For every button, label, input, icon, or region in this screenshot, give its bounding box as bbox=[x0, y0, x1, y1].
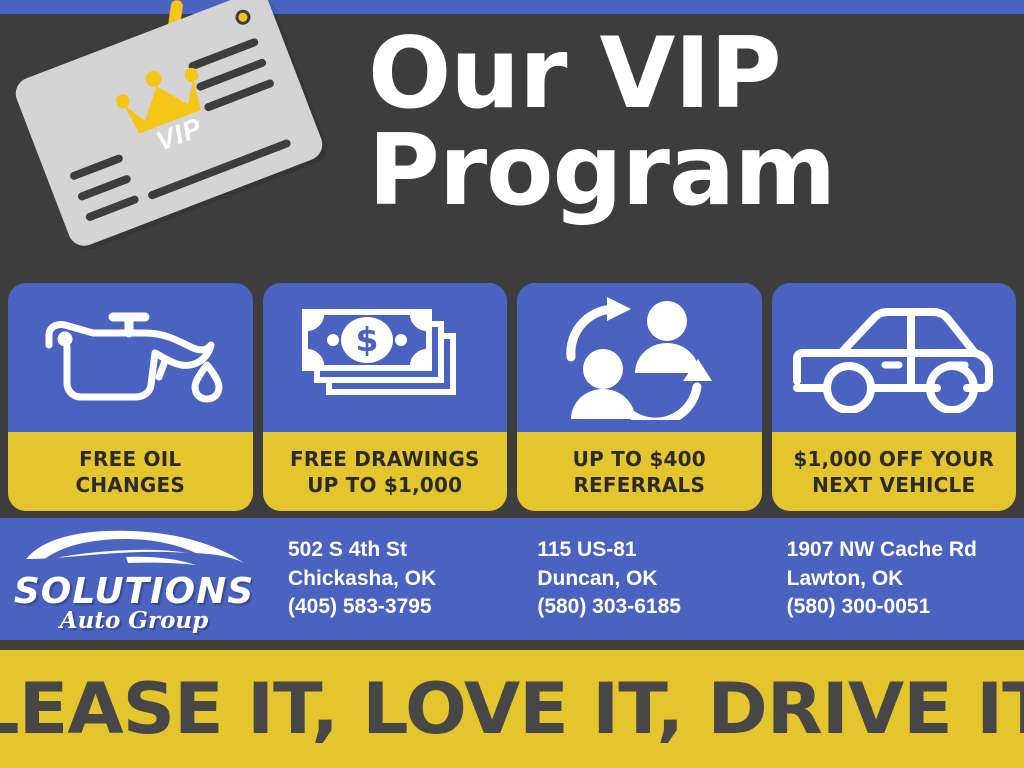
card-text-line bbox=[69, 153, 124, 181]
card-label-slot: UP TO $400 REFERRALS bbox=[517, 432, 762, 511]
location-phone[interactable]: (580) 300-0051 bbox=[787, 593, 1024, 622]
card-label-line-1: $1,000 OFF YOUR bbox=[793, 446, 994, 472]
contact-bar: SOLUTIONS Auto Group 502 S 4th St Chicka… bbox=[0, 518, 1024, 640]
car-icon bbox=[789, 303, 999, 413]
card-icon-slot bbox=[8, 283, 253, 432]
card-label-line-1: FREE DRAWINGS bbox=[290, 446, 480, 472]
tagline-text: LEASE IT, LOVE IT, DRIVE IT bbox=[0, 668, 1024, 750]
location-phone[interactable]: (580) 303-6185 bbox=[537, 593, 774, 622]
card-label-slot: FREE DRAWINGS UP TO $1,000 bbox=[263, 432, 508, 511]
location-city: Chickasha, OK bbox=[288, 565, 525, 594]
benefit-card-free-drawings[interactable]: $ FREE DRAWINGS UP TO $1,000 bbox=[263, 283, 508, 511]
company-logo[interactable]: SOLUTIONS Auto Group bbox=[0, 523, 268, 635]
vip-card-graphic: VIP bbox=[11, 0, 327, 250]
title-line-1: Our VIP bbox=[368, 26, 1008, 123]
money-bills-icon: $ bbox=[290, 299, 480, 417]
card-label-line-1: FREE OIL bbox=[79, 446, 181, 472]
top-accent-strip bbox=[0, 0, 1024, 14]
card-text-line bbox=[85, 195, 140, 223]
divider bbox=[0, 640, 1024, 650]
card-label-line-2: UP TO $1,000 bbox=[307, 472, 462, 498]
location-street: 115 US-81 bbox=[537, 536, 774, 565]
hero-section: VIP Our VIP Program bbox=[0, 14, 1024, 278]
location-item[interactable]: 502 S 4th St Chickasha, OK (405) 583-379… bbox=[276, 536, 525, 623]
oil-can-icon bbox=[35, 303, 225, 413]
benefits-card-row: FREE OIL CHANGES $ bbox=[8, 283, 1016, 511]
referral-people-icon bbox=[559, 295, 719, 420]
card-label-slot: FREE OIL CHANGES bbox=[8, 432, 253, 511]
location-item[interactable]: 115 US-81 Duncan, OK (580) 303-6185 bbox=[525, 536, 774, 623]
benefit-card-referrals[interactable]: UP TO $400 REFERRALS bbox=[517, 283, 762, 511]
card-label-line-1: UP TO $400 bbox=[573, 446, 706, 472]
location-street: 1907 NW Cache Rd bbox=[787, 536, 1024, 565]
tagline-banner: LEASE IT, LOVE IT, DRIVE IT bbox=[0, 650, 1024, 768]
car-swoosh-icon bbox=[22, 529, 250, 575]
card-label-line-2: NEXT VEHICLE bbox=[812, 472, 975, 498]
location-city: Duncan, OK bbox=[537, 565, 774, 594]
card-label-line-2: CHANGES bbox=[75, 472, 185, 498]
card-icon-slot: $ bbox=[263, 283, 508, 432]
card-label-slot: $1,000 OFF YOUR NEXT VEHICLE bbox=[772, 432, 1017, 511]
location-phone[interactable]: (405) 583-3795 bbox=[288, 593, 525, 622]
card-icon-slot bbox=[517, 283, 762, 432]
page-title: Our VIP Program bbox=[368, 26, 1008, 220]
location-item[interactable]: 1907 NW Cache Rd Lawton, OK (580) 300-00… bbox=[775, 536, 1024, 623]
card-icon-slot bbox=[772, 283, 1017, 432]
vip-badge-illustration: VIP bbox=[18, 16, 348, 278]
vip-program-poster: VIP Our VIP Program bbox=[0, 0, 1024, 768]
locations-list: 502 S 4th St Chickasha, OK (405) 583-379… bbox=[268, 536, 1024, 623]
card-label-line-2: REFERRALS bbox=[573, 472, 705, 498]
location-city: Lawton, OK bbox=[787, 565, 1024, 594]
logo-company-sub: Auto Group bbox=[0, 607, 268, 634]
title-line-2: Program bbox=[368, 123, 1008, 220]
benefit-card-oil-changes[interactable]: FREE OIL CHANGES bbox=[8, 283, 253, 511]
badge-hole bbox=[233, 8, 252, 27]
card-text-line bbox=[77, 174, 132, 202]
benefit-card-vehicle-discount[interactable]: $1,000 OFF YOUR NEXT VEHICLE bbox=[772, 283, 1017, 511]
svg-text:$: $ bbox=[355, 320, 378, 359]
logo-company-name: SOLUTIONS bbox=[0, 571, 268, 612]
location-street: 502 S 4th St bbox=[288, 536, 525, 565]
